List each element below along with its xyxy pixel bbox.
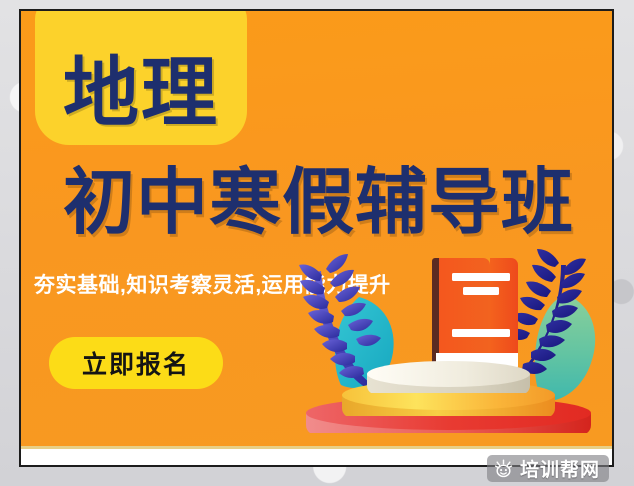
sun-face-icon (494, 459, 513, 478)
watermark: 培训帮网 (487, 455, 609, 482)
watermark-label: 培训帮网 (520, 455, 600, 482)
subject-badge-label: 地理 (63, 58, 219, 131)
poster-headline: 初中寒假辅导班 (27, 167, 610, 239)
enroll-now-button[interactable]: 立即报名 (49, 337, 223, 389)
book (432, 258, 518, 370)
subject-badge: 地理 (35, 9, 247, 145)
poster-card: 地理 初中寒假辅导班 夯实基础,知识考察灵活,运用能力提升 立即报名 (19, 9, 614, 467)
book-podium-illustration (281, 243, 614, 451)
enroll-now-label: 立即报名 (82, 345, 190, 381)
